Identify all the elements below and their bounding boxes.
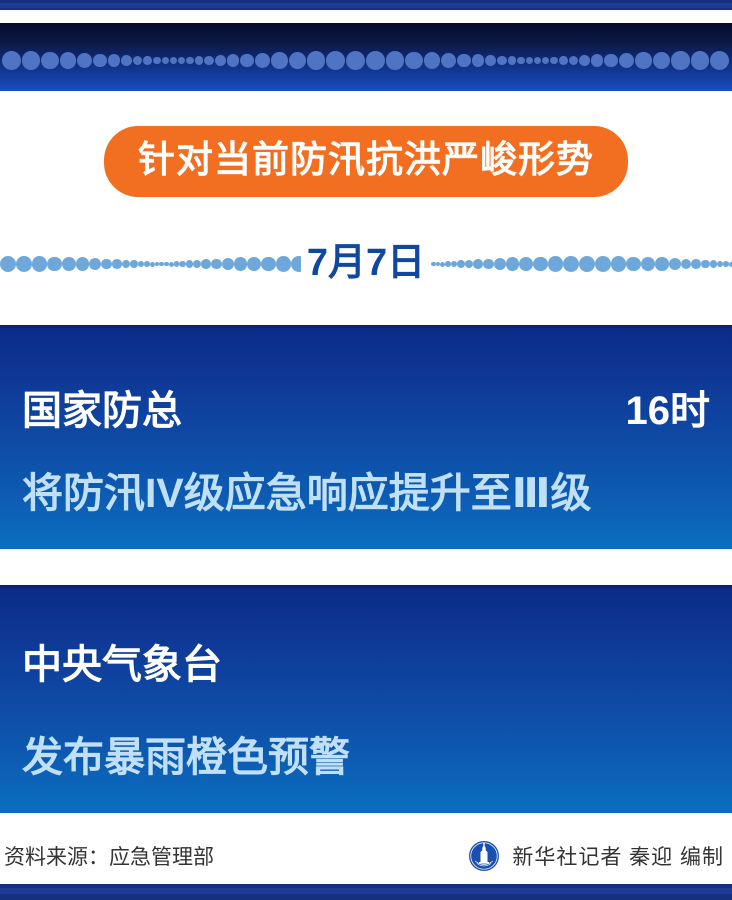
date-label: 7月7日 [301, 244, 431, 282]
announcement-block-2: 中央气象台 发布暴雨橙色预警 [0, 585, 732, 813]
credit-group: 新华社记者 秦迎 编制 [468, 840, 724, 872]
headline-pill-wrap: 针对当前防汛抗洪严峻形势 [0, 126, 732, 197]
infographic-page: 针对当前防汛抗洪严峻形势 7月7日 国家防总 16时 将防汛IV级应急响应提升至… [0, 0, 732, 900]
credit-text: 新华社记者 秦迎 编制 [512, 841, 724, 871]
header-dot-band [0, 23, 732, 91]
date-dots-left [0, 251, 301, 277]
source-text: 资料来源：应急管理部 [4, 841, 214, 871]
date-dots-right [431, 251, 732, 277]
block-2-header-line: 中央气象台 [22, 645, 710, 685]
xinhua-logo [468, 840, 500, 872]
block-1-time: 16时 [626, 391, 711, 431]
headline-pill: 针对当前防汛抗洪严峻形势 [104, 126, 628, 197]
block-1-header-line: 国家防总 16时 [22, 391, 710, 431]
date-divider: 7月7日 [0, 238, 732, 290]
footer: 资料来源：应急管理部 新华社记者 秦迎 编制 [0, 828, 732, 884]
block-1-organization: 国家防总 [22, 391, 182, 431]
block-2-organization: 中央气象台 [22, 645, 222, 685]
block-2-action: 发布暴雨橙色预警 [22, 737, 710, 778]
header-dot-row [0, 51, 732, 70]
top-rule-highlight [0, 3, 732, 8]
announcement-block-1: 国家防总 16时 将防汛IV级应急响应提升至Ⅲ级 [0, 325, 732, 549]
block-1-action: 将防汛IV级应急响应提升至Ⅲ级 [22, 473, 710, 514]
bottom-rule-highlight [0, 888, 732, 894]
